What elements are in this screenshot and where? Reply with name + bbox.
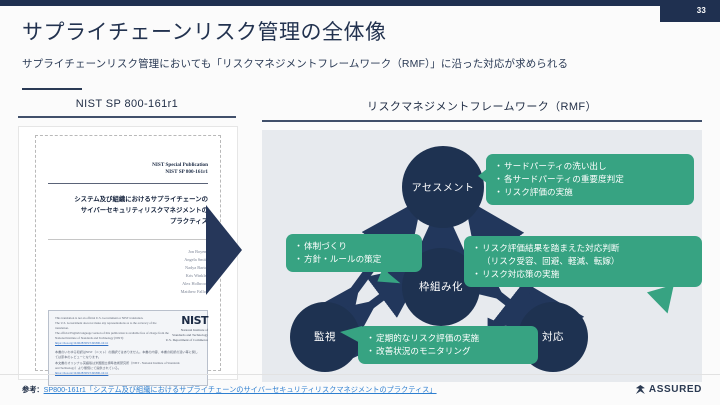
nist-logo-sub-line3: U.S. Department of Commerce bbox=[166, 338, 208, 343]
callout-item: ・ サードパーティの洗い出し bbox=[493, 160, 685, 173]
node-framing-label: 枠組み化 bbox=[419, 279, 463, 294]
bullet-glyph: ・ bbox=[493, 173, 504, 186]
nist-author: Jon Boyens bbox=[48, 248, 208, 256]
nist-author: Matthew Fallon bbox=[48, 288, 208, 296]
bullet-glyph: ・ bbox=[293, 253, 304, 266]
footer-divider bbox=[0, 374, 720, 375]
nist-publication-line1: NIST Special Publication bbox=[48, 162, 208, 170]
node-assessment-label: アセスメント bbox=[412, 179, 475, 194]
page-title: サプライチェーンリスク管理の全体像 bbox=[22, 16, 386, 46]
callout-item-text: 改善状況のモニタリング bbox=[376, 345, 529, 358]
callout-item-text: （リスク受容、回避、軽減、転嫁） bbox=[482, 255, 693, 268]
nist-author-list: Jon Boyens Angela Smith Nadya Bartol Kri… bbox=[48, 248, 208, 296]
callout-assessment-list: ・ サードパーティの洗い出し ・ 各サードパーティの重要度判定 ・ リスク評価の… bbox=[493, 160, 685, 199]
top-accent-bar bbox=[0, 0, 720, 6]
nist-author: Angela Smith bbox=[48, 256, 208, 264]
callout-item: ・ 体制づくり bbox=[293, 240, 413, 253]
right-column-divider bbox=[262, 120, 702, 122]
nist-logo-subtext: National Institute of Standards and Tech… bbox=[166, 328, 208, 343]
bullet-glyph: ・ bbox=[493, 160, 504, 173]
left-column-divider bbox=[18, 116, 236, 118]
nist-author: Alex Holbrook bbox=[48, 280, 208, 288]
rmf-diagram: アセスメント 枠組み化 監視 対応 ・ サードパーティの洗い出し bbox=[262, 130, 702, 382]
transition-arrow-icon bbox=[206, 205, 242, 295]
slide: 33 サプライチェーンリスク管理の全体像 サプライチェーンリスク管理においても「… bbox=[0, 0, 720, 405]
nist-author: Nadya Bartol bbox=[48, 264, 208, 272]
callout-item: ・ リスク評価の実施 bbox=[493, 186, 685, 199]
callout-item-text: 各サードパーティの重要度判定 bbox=[504, 173, 685, 186]
title-divider bbox=[22, 88, 82, 90]
brand-logo: ASSURED bbox=[636, 384, 702, 395]
left-column: NIST SP 800-161r1 NIST Special Publicati… bbox=[18, 98, 236, 380]
callout-monitoring: ・ 定期的なリスク評価の実施 ・ 改善状況のモニタリング bbox=[358, 326, 538, 364]
brand-name: ASSURED bbox=[649, 384, 702, 395]
callout-item: ・ 方針・ルールの策定 bbox=[293, 253, 413, 266]
nist-document-page: NIST Special Publication NIST SP 800-161… bbox=[35, 135, 221, 371]
callout-item-text: リスク評価結果を踏まえた対応判断 bbox=[482, 242, 693, 255]
bullet-glyph: ・ bbox=[471, 268, 482, 281]
callout-item-text: サードパーティの洗い出し bbox=[504, 160, 685, 173]
arrow-framing-response bbox=[482, 282, 528, 318]
callout-item-text: リスク対応策の実施 bbox=[482, 268, 693, 281]
nist-document-thumbnail: NIST Special Publication NIST SP 800-161… bbox=[18, 126, 238, 380]
bullet-glyph: ・ bbox=[471, 242, 482, 255]
nist-logo: NIST National Institute of Standards and… bbox=[166, 314, 208, 343]
nist-publication-line2: NIST SP 800-161r1 bbox=[48, 169, 208, 177]
footer-reference-link[interactable]: SP800-161r1「システム及び組織におけるサプライチェーンのサイバーセキュ… bbox=[44, 385, 437, 394]
callout-item: ・ 定期的なリスク評価の実施 bbox=[365, 332, 529, 345]
nist-logo-text: NIST bbox=[166, 314, 208, 327]
page-number-badge bbox=[660, 0, 720, 22]
callout-item-text: 定期的なリスク評価の実施 bbox=[376, 332, 529, 345]
callout-assessment: ・ サードパーティの洗い出し ・ 各サードパーティの重要度判定 ・ リスク評価の… bbox=[486, 154, 694, 205]
callout-framing-list: ・ 体制づくり ・ 方針・ルールの策定 bbox=[293, 240, 413, 266]
nist-author: Kris Winkler bbox=[48, 272, 208, 280]
callout-framing: ・ 体制づくり ・ 方針・ルールの策定 bbox=[286, 234, 422, 272]
callout-item-text: 方針・ルールの策定 bbox=[304, 253, 413, 266]
callout-item: ・ リスク評価結果を踏まえた対応判断 bbox=[471, 242, 693, 255]
nist-doc-rule bbox=[48, 183, 208, 184]
callout-response-list: ・ リスク評価結果を踏まえた対応判断 ・ （リスク受容、回避、軽減、転嫁） ・ … bbox=[471, 242, 693, 281]
callout-item: ・ リスク対応策の実施 bbox=[471, 268, 693, 281]
callout-item-text: 体制づくり bbox=[304, 240, 413, 253]
node-monitoring-label: 監視 bbox=[314, 329, 336, 344]
nist-title-line3: プラクティス bbox=[48, 216, 208, 227]
bullet-glyph: ・ bbox=[293, 240, 304, 253]
bullet-glyph: ・ bbox=[365, 332, 376, 345]
nist-title-line1: システム及び組織におけるサプライチェーンの bbox=[48, 194, 208, 205]
callout-monitoring-list: ・ 定期的なリスク評価の実施 ・ 改善状況のモニタリング bbox=[365, 332, 529, 358]
callout-item: ・ 改善状況のモニタリング bbox=[365, 345, 529, 358]
page-subtitle: サプライチェーンリスク管理においても「リスクマネジメントフレームワーク（RMF）… bbox=[22, 56, 568, 71]
nist-title-line2: サイバーセキュリティリスクマネジメントの bbox=[48, 205, 208, 216]
bullet-glyph: ・ bbox=[493, 186, 504, 199]
nist-document-title: システム及び組織におけるサプライチェーンの サイバーセキュリティリスクマネジメン… bbox=[48, 194, 208, 228]
assured-mark-icon bbox=[636, 385, 645, 394]
left-column-heading: NIST SP 800-161r1 bbox=[18, 98, 236, 110]
nist-doc-rule-2 bbox=[48, 239, 208, 240]
footer-reference-label: 参考： bbox=[22, 385, 44, 394]
node-assessment: アセスメント bbox=[402, 146, 484, 228]
callout-item: ・ （リスク受容、回避、軽減、転嫁） bbox=[471, 255, 693, 268]
callout-response: ・ リスク評価結果を踏まえた対応判断 ・ （リスク受容、回避、軽減、転嫁） ・ … bbox=[464, 236, 702, 287]
notice-japanese-block: 本書のいわゆる和訳はNIST（ニスト）の翻訳ではありません。本書の内容、本書の和… bbox=[55, 350, 201, 375]
right-column: リスクマネジメントフレームワーク（RMF） bbox=[262, 98, 702, 382]
notice-ja-line: 本文書のオリジナル英語版は米国国立標準技術研究所（NIST - National… bbox=[55, 361, 201, 366]
footer-reference: 参考：SP800-161r1「システム及び組織におけるサプライチェーンのサイバー… bbox=[22, 385, 437, 395]
bullet-glyph: ・ bbox=[365, 345, 376, 358]
nist-publication-header: NIST Special Publication NIST SP 800-161… bbox=[48, 162, 208, 177]
callout-item: ・ 各サードパーティの重要度判定 bbox=[493, 173, 685, 186]
page-number: 33 bbox=[697, 6, 706, 15]
callout-item-text: リスク評価の実施 bbox=[504, 186, 685, 199]
node-response-label: 対応 bbox=[542, 329, 564, 344]
right-column-heading: リスクマネジメントフレームワーク（RMF） bbox=[262, 98, 702, 114]
